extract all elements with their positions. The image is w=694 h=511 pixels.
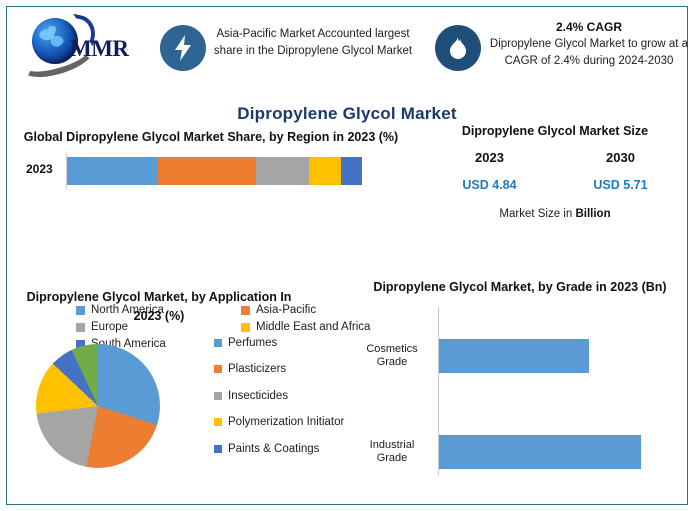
pie-graphic: [36, 344, 160, 468]
grade-chart-plot: Cosmetics GradeIndustrial Grade: [354, 307, 686, 475]
grade-bar: [439, 339, 589, 373]
pie-legend-item: Polymerization Initiator: [214, 415, 354, 429]
header: MMR Asia-Pacific Market Accounted larges…: [8, 8, 686, 94]
region-segment-4: [341, 157, 362, 185]
pie-legend-item: Insecticides: [214, 389, 354, 403]
market-size-year-2030: 2030: [555, 150, 686, 165]
market-size-value-2023: USD 4.84: [424, 178, 555, 192]
legend-swatch-icon: [214, 418, 222, 426]
legend-label: Insecticides: [228, 389, 288, 403]
legend-swatch-icon: [214, 392, 222, 400]
grade-category-label: Cosmetics Grade: [354, 343, 434, 371]
legend-swatch-icon: [214, 339, 222, 347]
region-segment-2: [256, 157, 309, 185]
application-share-chart: Dipropylene Glycol Market, by Applicatio…: [14, 288, 344, 327]
grade-chart-title: Dipropylene Glycol Market, by Grade in 2…: [354, 278, 686, 297]
region-chart-title: Global Dipropylene Glycol Market Share, …: [16, 128, 406, 147]
pie-chart-title: Dipropylene Glycol Market, by Applicatio…: [14, 288, 304, 327]
region-segment-1: [158, 157, 255, 185]
mmr-logo: MMR: [18, 14, 146, 72]
region-share-chart: Global Dipropylene Glycol Market Share, …: [16, 128, 406, 187]
legend-label: Plasticizers: [228, 362, 286, 376]
market-size-unit: Billion: [575, 208, 610, 220]
pie-legend-item: Perfumes: [214, 336, 354, 350]
market-size-unit-prefix: Market Size in: [499, 208, 575, 220]
market-size-years: 2023 2030: [424, 150, 686, 165]
pie-legend-item: Plasticizers: [214, 362, 354, 376]
legend-swatch-icon: [214, 445, 222, 453]
region-segment-3: [309, 157, 341, 185]
flame-icon: [435, 25, 481, 71]
market-size-year-2023: 2023: [424, 150, 555, 165]
infographic-page: MMR Asia-Pacific Market Accounted larges…: [0, 0, 694, 511]
grade-bar-row: Industrial Grade: [354, 435, 686, 469]
pie-legend-item: Paints & Coatings: [214, 442, 354, 456]
cagr-callout: 2.4% CAGR Dipropylene Glycol Market to g…: [486, 20, 692, 69]
market-size-value-2030: USD 5.71: [555, 178, 686, 192]
market-size-panel: Dipropylene Glycol Market Size 2023 2030…: [424, 122, 686, 220]
legend-label: Paints & Coatings: [228, 442, 319, 456]
grade-category-label: Industrial Grade: [354, 439, 434, 467]
region-segment-0: [67, 157, 158, 185]
legend-swatch-icon: [214, 365, 222, 373]
market-size-values: USD 4.84 USD 5.71: [424, 178, 686, 192]
page-title: Dipropylene Glycol Market: [0, 104, 694, 124]
cagr-detail: Dipropylene Glycol Market to grow at a C…: [486, 36, 692, 69]
market-size-title: Dipropylene Glycol Market Size: [424, 122, 686, 141]
asia-pacific-highlight-text: Asia-Pacific Market Accounted largest sh…: [213, 26, 413, 59]
grade-share-chart: Dipropylene Glycol Market, by Grade in 2…: [354, 278, 686, 475]
region-chart-plot: 2023: [16, 155, 406, 187]
pie-chart-plot: [36, 344, 186, 494]
legend-label: Polymerization Initiator: [228, 415, 344, 429]
market-size-unit-note: Market Size in Billion: [424, 208, 686, 220]
region-stacked-bar: [67, 157, 362, 185]
pie-legend: PerfumesPlasticizersInsecticidesPolymeri…: [214, 336, 354, 456]
brand-name: MMR: [70, 36, 129, 62]
legend-label: Perfumes: [228, 336, 277, 350]
grade-bar: [439, 435, 641, 469]
region-category-label: 2023: [26, 162, 53, 176]
lightning-bolt-icon: [160, 25, 206, 71]
cagr-headline: 2.4% CAGR: [486, 20, 692, 34]
grade-bar-row: Cosmetics Grade: [354, 339, 686, 373]
